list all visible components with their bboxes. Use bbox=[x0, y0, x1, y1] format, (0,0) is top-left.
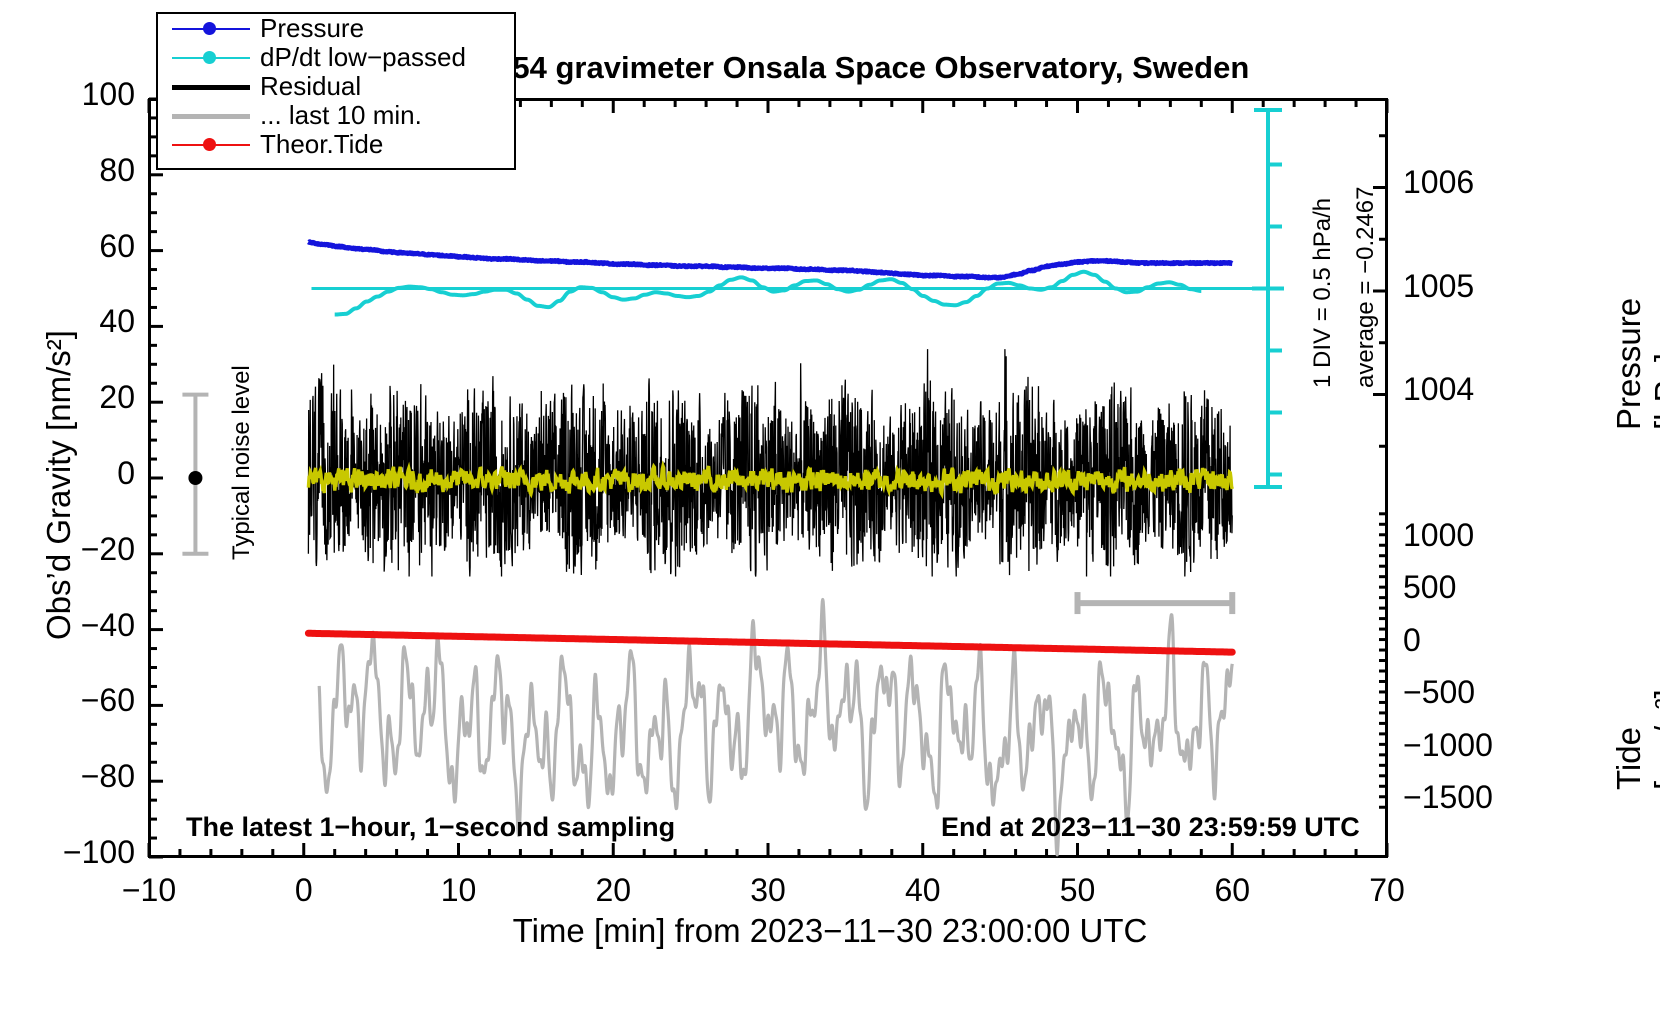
legend-label-tide: Theor.Tide bbox=[250, 129, 383, 160]
legend-label-pressure: Pressure bbox=[250, 13, 364, 44]
y-tide-tick-2: 0 bbox=[1403, 622, 1421, 659]
legend-swatch-pressure bbox=[172, 19, 250, 39]
legend-label-dpdt: dP/dt low−passed bbox=[250, 42, 466, 73]
y-tide-tick-1: 500 bbox=[1403, 569, 1456, 606]
legend-item-last10[interactable]: ... last 10 min. bbox=[158, 101, 514, 130]
y-tide-tick-5: −1500 bbox=[1403, 779, 1493, 816]
y-left-tick-3: 40 bbox=[99, 303, 135, 340]
y-left-tick-10: −100 bbox=[63, 834, 135, 871]
series-dpdt-line bbox=[335, 272, 1202, 315]
y-left-tick-8: −60 bbox=[81, 682, 135, 719]
x-tick-1: 0 bbox=[295, 872, 313, 909]
scale-div-label: 1 DIV = 0.5 hPa/h bbox=[1309, 198, 1337, 388]
x-tick-2: 10 bbox=[441, 872, 477, 909]
y-pressure-tick-2: 1004 bbox=[1403, 371, 1474, 408]
legend-swatch-last10 bbox=[172, 106, 250, 126]
y-tide-tick-3: −500 bbox=[1403, 674, 1475, 711]
series-tide-line bbox=[308, 633, 1232, 652]
y-left-tick-2: 60 bbox=[99, 228, 135, 265]
legend-item-dpdt[interactable]: dP/dt low−passed bbox=[158, 43, 514, 72]
x-tick-3: 20 bbox=[595, 872, 631, 909]
series-pressure-line bbox=[308, 242, 1232, 278]
legend[interactable]: Pressure dP/dt low−passed Residual ... l… bbox=[156, 12, 516, 170]
x-tick-0: −10 bbox=[122, 872, 176, 909]
x-axis-title: Time [min] from 2023−11−30 23:00:00 UTC bbox=[0, 912, 1660, 950]
legend-swatch-residual bbox=[172, 77, 250, 97]
x-tick-7: 60 bbox=[1214, 872, 1250, 909]
y-axis-tide-title: Tide [nm/s²] bbox=[1610, 689, 1660, 790]
chart-root: SCG_054 gravimeter Onsala Space Observat… bbox=[0, 0, 1660, 1020]
x-tick-4: 30 bbox=[750, 872, 786, 909]
bottom-left-note: The latest 1−hour, 1−second sampling bbox=[186, 812, 675, 843]
y-left-tick-9: −80 bbox=[81, 758, 135, 795]
scale-average-label: average = −0.2467 bbox=[1352, 186, 1380, 388]
y-left-tick-0: 100 bbox=[82, 76, 135, 113]
x-tick-8: 70 bbox=[1369, 872, 1405, 909]
x-tick-5: 40 bbox=[905, 872, 941, 909]
legend-swatch-dpdt bbox=[172, 48, 250, 68]
y-tide-tick-4: −1000 bbox=[1403, 727, 1493, 764]
x-tick-6: 50 bbox=[1060, 872, 1096, 909]
y-left-tick-1: 80 bbox=[99, 152, 135, 189]
y-left-tick-5: 0 bbox=[117, 455, 135, 492]
legend-item-pressure[interactable]: Pressure bbox=[158, 14, 514, 43]
legend-item-residual[interactable]: Residual bbox=[158, 72, 514, 101]
y-left-tick-6: −20 bbox=[81, 531, 135, 568]
legend-label-last10: ... last 10 min. bbox=[250, 100, 422, 131]
legend-item-tide[interactable]: Theor.Tide bbox=[158, 130, 514, 159]
legend-swatch-tide bbox=[172, 135, 250, 155]
y-pressure-tick-1: 1005 bbox=[1403, 268, 1474, 305]
y-left-tick-7: −40 bbox=[81, 607, 135, 644]
y-axis-pressure-title: Pressure [hPa] bbox=[1610, 298, 1660, 430]
series-residual-line bbox=[308, 349, 1232, 576]
legend-label-residual: Residual bbox=[250, 71, 361, 102]
y-axis-left-title: Obs’d Gravity [nm/s²] bbox=[40, 330, 78, 640]
noise-level-dot bbox=[188, 471, 202, 485]
bottom-right-note: End at 2023−11−30 23:59:59 UTC bbox=[941, 812, 1360, 843]
y-tide-tick-0: 1000 bbox=[1403, 517, 1474, 554]
y-pressure-tick-0: 1006 bbox=[1403, 164, 1474, 201]
noise-level-label: Typical noise level bbox=[228, 365, 256, 560]
y-left-tick-4: 20 bbox=[99, 379, 135, 416]
